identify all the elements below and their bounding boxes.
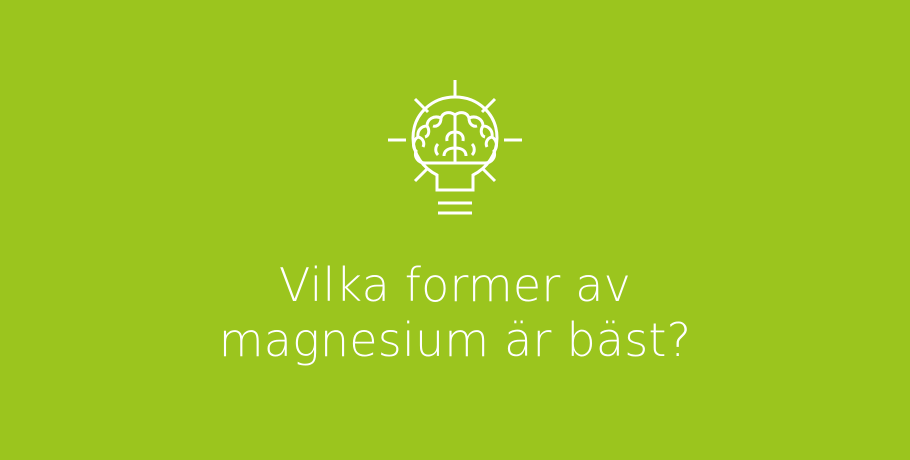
brain-fold-l3-icon <box>418 137 424 147</box>
icon-container <box>0 70 910 230</box>
brain-fold-l6-icon <box>436 144 438 155</box>
brain-fold-r5-icon <box>455 148 466 156</box>
brain-fold-l1-icon <box>433 118 441 126</box>
bulb-glass-icon <box>413 97 497 190</box>
promo-card: Vilka former av magnesium är bäst? <box>0 0 910 460</box>
page-title-line-2: magnesium är bäst? <box>0 313 910 368</box>
brain-fold-r1-icon <box>469 118 477 126</box>
page-title-line-1: Vilka former av <box>0 258 910 313</box>
brain-outline-icon <box>414 113 497 163</box>
ray-bottom-left-icon <box>415 168 428 181</box>
brain-fold-r2-icon <box>481 126 485 137</box>
brain-fold-l4-icon <box>447 132 455 141</box>
ray-top-right-icon <box>482 99 495 112</box>
brain-fold-r3-icon <box>486 137 492 147</box>
brain-fold-l5-icon <box>444 148 455 156</box>
brain-fold-l2-icon <box>425 126 429 137</box>
brain-fold-r4-icon <box>455 132 463 141</box>
lightbulb-brain-icon <box>380 70 530 225</box>
ray-bottom-right-icon <box>482 168 495 181</box>
ray-top-left-icon <box>415 99 428 112</box>
brain-fold-r6-icon <box>472 144 474 155</box>
page-title: Vilka former av magnesium är bäst? <box>0 258 910 368</box>
